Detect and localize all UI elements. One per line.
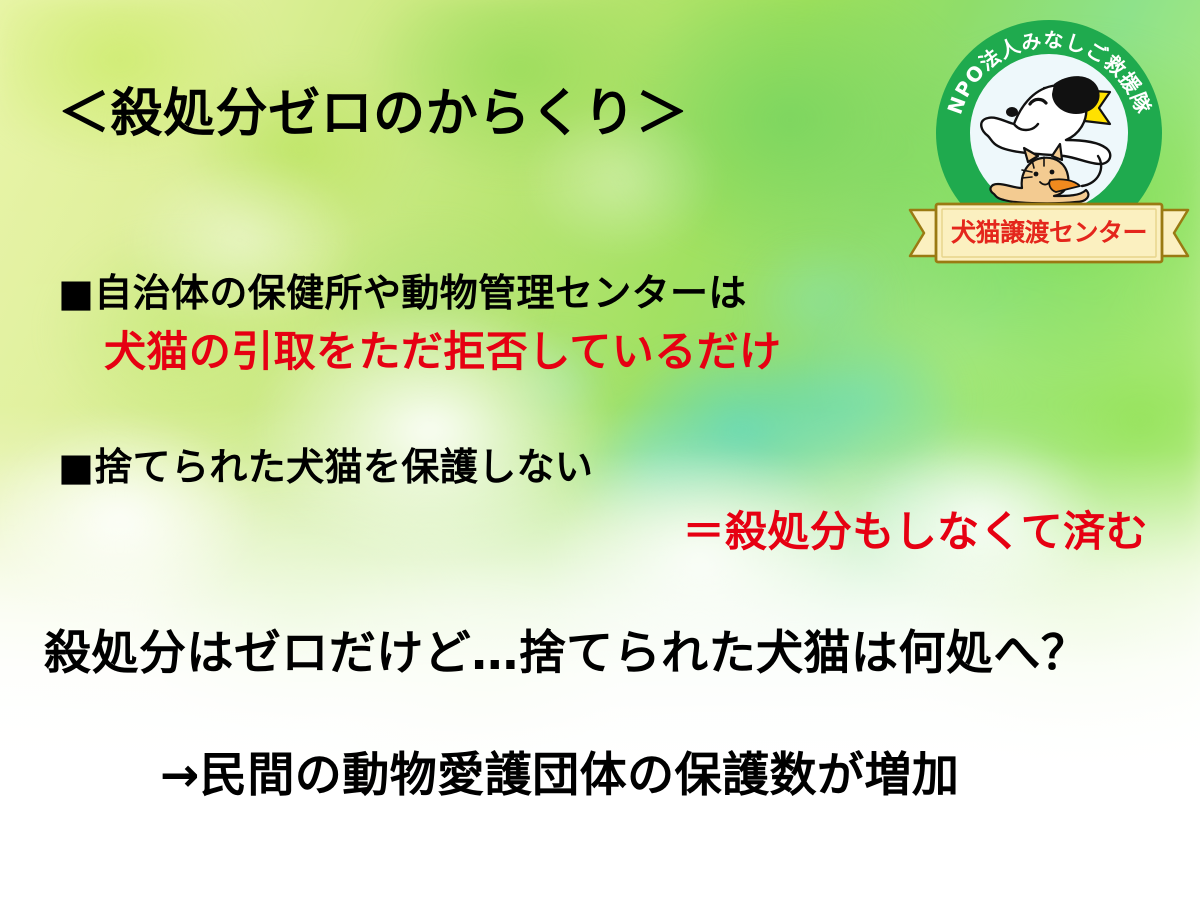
bullet-1-highlight: 犬猫の引取をただ拒否しているだけ bbox=[104, 318, 781, 379]
bullet-1-statement: ■自治体の保健所や動物管理センターは bbox=[58, 262, 747, 317]
slide-content: ＜殺処分ゼロのからくり＞ ■自治体の保健所や動物管理センターは 犬猫の引取をただ… bbox=[0, 0, 1200, 901]
cat-eye-right-shape bbox=[1050, 170, 1055, 175]
cat-body-shape bbox=[991, 158, 1089, 204]
organization-logo: NPO法人みなしご救援隊 bbox=[908, 16, 1190, 264]
bullet-2-highlight: ＝殺処分もしなくて済む bbox=[683, 498, 1148, 559]
question-line: 殺処分はゼロだけど…捨てられた犬猫は何処へ？ bbox=[44, 614, 1088, 683]
dog-nose-shape bbox=[1006, 107, 1018, 117]
logo-banner-text: 犬猫譲渡センター bbox=[908, 212, 1190, 254]
page-title: ＜殺処分ゼロのからくり＞ bbox=[58, 84, 688, 145]
cat-eye-left-shape bbox=[1034, 172, 1039, 177]
logo-dog-cat-illustration bbox=[958, 44, 1140, 222]
conclusion-line: →民間の動物愛護団体の保護数が増加 bbox=[160, 736, 959, 805]
cat-saddle-shape bbox=[1049, 179, 1080, 192]
bullet-2-statement: ■捨てられた犬猫を保護しない bbox=[58, 436, 593, 491]
slide-canvas: ＜殺処分ゼロのからくり＞ ■自治体の保健所や動物管理センターは 犬猫の引取をただ… bbox=[0, 0, 1200, 901]
